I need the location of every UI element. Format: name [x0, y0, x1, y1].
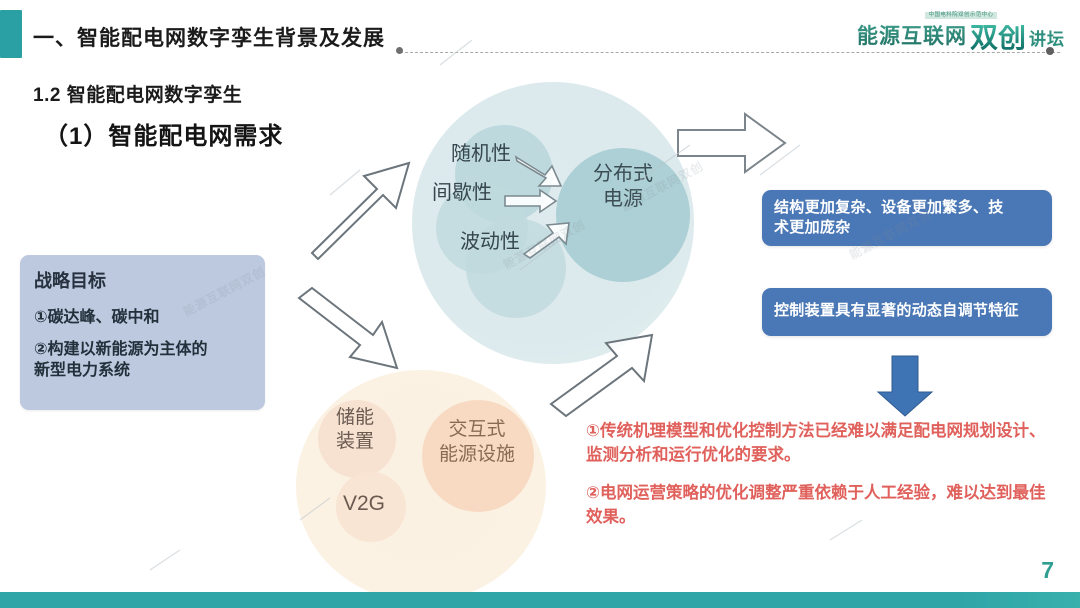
arrow-down-to-conclusions — [878, 356, 932, 416]
logo-wordmark: 能源互联网 双创 讲坛 — [857, 20, 1065, 50]
label-ies-line2: 能源设施 — [413, 443, 541, 468]
logo-word-shuangchuang: 双创 — [970, 25, 1026, 51]
title-divider-dot-start — [396, 47, 403, 54]
strategy-item-2-line1: ②构建以新能源为主体的 — [34, 339, 251, 361]
teal-accent-bar-left — [0, 10, 22, 58]
strategy-item-2-line2: 新型电力系统 — [34, 360, 251, 382]
label-v2g: V2G — [343, 492, 385, 516]
conclusion-item-2: ②电网运营策略的优化调整严重依赖于人工经验，难以达到最佳效果。 — [586, 482, 1056, 530]
label-energy-storage: 储能 装置 — [322, 406, 388, 455]
teal-bottom-bar — [0, 592, 1080, 608]
label-intermittency: 间歇性 — [432, 176, 492, 205]
label-fluctuation: 波动性 — [460, 225, 520, 254]
label-randomness: 随机性 — [451, 137, 511, 166]
arrow-strategy-to-orange-cluster — [299, 288, 397, 368]
strategy-item-1: ①碳达峰、碳中和 — [34, 307, 251, 329]
label-ies-line1: 交互式 — [413, 418, 541, 443]
label-interactive-energy-facility: 交互式 能源设施 — [413, 418, 541, 467]
label-storage-line1: 储能 — [322, 406, 388, 430]
logo-word-forum: 讲坛 — [1029, 25, 1065, 50]
arrow-strategy-to-blue-cluster — [312, 163, 409, 259]
logo-word-energy-internet: 能源互联网 — [857, 20, 967, 50]
conclusion-text-block: ①传统机理模型和优化控制方法已经难以满足配电网规划设计、监测分析和运行优化的要求… — [586, 420, 1056, 530]
strategy-item-2: ②构建以新能源为主体的 新型电力系统 — [34, 339, 251, 382]
label-storage-line2: 装置 — [322, 430, 388, 454]
item-heading: （1）智能配电网需求 — [44, 116, 283, 151]
logo-subtitle-text: 中国电科院双创示范中心 — [925, 12, 998, 20]
forum-logo: 中国电科院双创示范中心 能源互联网 双创 讲坛 — [856, 8, 1066, 54]
section-heading: 一、智能配电网数字孪生背景及发展 — [33, 22, 385, 52]
slide-canvas: 一、智能配电网数字孪生背景及发展 1.2 智能配电网数字孪生 （1）智能配电网需… — [0, 0, 1080, 608]
conclusion-item-1: ①传统机理模型和优化控制方法已经难以满足配电网规划设计、监测分析和运行优化的要求… — [586, 420, 1056, 468]
callout-2-line1: 控制装置具有显著的动态自调节特征 — [774, 301, 1040, 321]
page-number: 7 — [1041, 557, 1054, 584]
sub-heading: 1.2 智能配电网数字孪生 — [33, 80, 242, 107]
callout-box-dynamic-regulation: 控制装置具有显著的动态自调节特征 — [762, 288, 1052, 336]
